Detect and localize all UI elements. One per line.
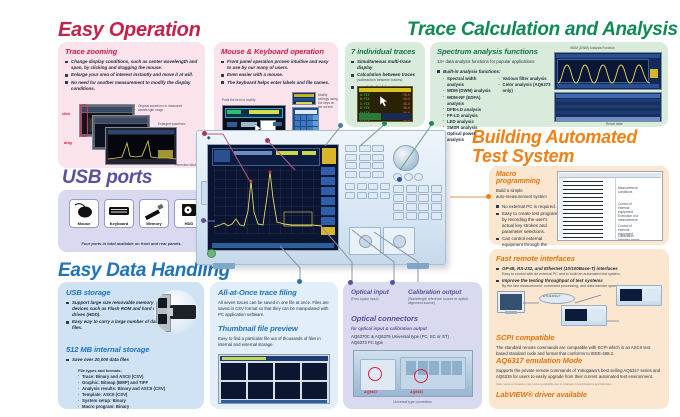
filetypes-list: Trace: Binary and ASCII (CSV) Graphic: B… <box>78 374 198 411</box>
trace-zooming-bullets: Change display conditions, such as cente… <box>65 59 199 92</box>
code-annotation: Execution of a measurement <box>618 214 642 222</box>
title-line1: Macro <box>496 171 516 178</box>
instrument-foot-right <box>407 263 429 269</box>
list-item-sub: (subtraction between traces) <box>357 78 420 83</box>
panel-title: Spectrum analysis functions <box>437 47 555 56</box>
mouse-icon <box>70 200 98 220</box>
caption-point-item: Point the item to modify <box>222 98 255 102</box>
connectors-title: Optical connectors <box>351 314 476 323</box>
caption-enlarged-waveform: Enlarged waveform <box>158 122 200 126</box>
panel-title: Fast remote interfaces <box>496 254 662 263</box>
heading-usb-ports: USB ports <box>62 168 152 188</box>
optical-input-label: Optical input <box>351 289 403 296</box>
usb-icon-memory: Memory <box>139 199 169 228</box>
heading-line2: Test System <box>472 146 574 166</box>
code-annotation: Control of external equipment <box>618 202 642 214</box>
code-annotation: Measurement conditions <box>618 186 642 194</box>
usb-icon-mouse: Mouse <box>69 199 99 228</box>
panel-title: Macro programming <box>496 171 558 185</box>
caption-original-waveform: Original waveform in measured wavelength… <box>138 104 198 112</box>
usb-icon-label: Keyboard <box>105 221 133 226</box>
instrument-numeric-keypad[interactable] <box>393 185 442 220</box>
analyzer-icon-2 <box>561 305 607 326</box>
heading-trace-calculation: Trace Calculation and Analysis <box>407 20 678 40</box>
photo-label: AQ9447 <box>364 390 377 394</box>
panel-macro-programming: Macro programming Build a simple auto-me… <box>489 166 669 245</box>
thumbnail-title: Thumbnail file preview <box>218 324 331 333</box>
instrument-foot-left <box>213 263 235 269</box>
list-item: Spectral width analysis <box>443 76 492 88</box>
screenshot-value-readout <box>292 92 316 105</box>
optical-input-sub: (Free space input) <box>351 297 403 301</box>
callout-node-optical-input <box>348 280 353 285</box>
analysis-functions-col2: Various filter analysis Color analysis (… <box>498 76 555 143</box>
panel-trace-filing: All-at-Once trace filing All seven trace… <box>210 282 338 409</box>
instrument-trace-svg <box>214 167 322 234</box>
list-item: Change display conditions, such as cente… <box>65 59 199 71</box>
thumbnail-body: Easy to find a particular file out of th… <box>218 336 331 348</box>
caption-modify-settings: Modify settings using the keys on the sc… <box>318 93 338 110</box>
list-item: Optical power analysis <box>443 131 492 143</box>
builtin-label-list: Built-in analysis functions: <box>437 69 555 75</box>
list-item: Even easier with a mouse. <box>221 72 332 78</box>
list-item: Built-in analysis functions: <box>437 69 555 75</box>
list-item: The keyboard helps enter labels and file… <box>221 80 332 86</box>
instrument-power-button[interactable] <box>207 249 216 258</box>
panel-usb-storage: USB storage Support large size removable… <box>58 282 204 409</box>
list-item: Color analysis (AQ6373 only) <box>498 82 555 94</box>
callout-node-usb <box>201 218 206 223</box>
list-item-label: GP-IB, RS-232, and Ethernet (10/100Base-… <box>502 266 618 271</box>
list-item: WDM-NF (EDFA) analysis <box>443 95 492 107</box>
optical-spectrum-analyzer: ◆ <box>196 130 446 265</box>
spectrum-lead: 13+ data analysis functions for popular … <box>437 59 555 65</box>
analyzer-icon-1 <box>616 285 662 306</box>
internal-storage-bullets: Save over 20,000 data files <box>66 357 198 363</box>
analysis-functions-col1: Spectral width analysis WDM (DWM) analys… <box>443 76 492 143</box>
callout-node-mouse-keyboard <box>265 138 270 143</box>
callout-node-trace-zooming <box>202 131 207 136</box>
callout-node-display <box>338 123 343 128</box>
macro-lead-line2: auto-measurement system <box>496 194 547 199</box>
keyboard-icon <box>105 200 133 220</box>
mouse-keyboard-bullets: Front panel operation proven intuitive a… <box>221 59 332 86</box>
usb-icon-label: Mouse <box>70 221 98 226</box>
emulation-title: AQ6317 emulation Mode <box>496 356 662 365</box>
panel-individual-traces: 7 individual traces Simultaneous multi-t… <box>345 42 425 127</box>
list-item: Support large size removable memory devi… <box>66 300 162 318</box>
instrument-softkeys[interactable] <box>321 167 335 237</box>
panel-title: All-at-Once trace filing <box>218 288 331 297</box>
screenshot-result-table <box>554 92 662 122</box>
filetypes-label: File types and formats: <box>78 368 198 373</box>
panel-title: USB storage <box>66 288 162 297</box>
instrument-function-keys[interactable] <box>345 145 384 178</box>
title-line2: programming <box>496 178 540 185</box>
callout-node-traces <box>382 121 387 126</box>
usb-icon-label: Memory <box>140 221 168 226</box>
code-annotation: Calculation between traces <box>618 234 642 241</box>
list-item-label: Simultaneous multi-trace display <box>357 59 411 70</box>
internal-storage-title: 512 MB internal storage <box>66 345 198 354</box>
list-item: GP-IB, RS-232, and Ethernet (10/100Base-… <box>496 266 662 277</box>
caption-wdm-analysis: WDM (DWM) Analysis Function <box>570 46 615 50</box>
calibration-output-label: Calibration output <box>408 289 472 296</box>
screenshot-enlarged-waveform <box>105 127 177 165</box>
label-drag: drag <box>64 141 72 145</box>
network-diagram: ETHERNET <box>497 283 662 328</box>
pc-monitor-icon <box>497 291 525 313</box>
macro-bullets: No external PC is required. Easy to crea… <box>496 204 558 255</box>
photo-usb-drive <box>154 290 198 334</box>
callout-node-analysis <box>429 121 434 126</box>
photo-caption: Universal type connection <box>343 400 482 404</box>
instrument-setup-keys[interactable] <box>345 183 390 199</box>
list-item: Front panel operation proven intuitive a… <box>221 59 332 71</box>
photo-label: AQ9451 <box>410 390 423 394</box>
list-item: No need for another measurement to modif… <box>65 80 199 92</box>
connectors-line2: AQ6373 FC type <box>351 340 476 346</box>
panel-title: Mouse & Keyboard operation <box>221 47 332 56</box>
caption-result-table: Result table <box>606 122 623 126</box>
screenshot-trace-list: A:FIXB:FIXC:FIXD:FIXE:FIXF:FIXG:FIX /BLK… <box>357 86 413 122</box>
macro-lead-line1: Build a simple <box>496 188 523 193</box>
labview-title: LabVIEW® driver available <box>496 390 587 399</box>
callout-node-filing <box>297 279 302 284</box>
zoom-selection-marker <box>80 104 88 137</box>
instrument-display[interactable] <box>207 144 339 251</box>
screenshot-thumbnail-preview <box>218 354 330 404</box>
photo-connector-panel: AQ9447 AQ9451 <box>353 350 473 397</box>
panel-trace-zooming: Trace zooming Change display conditions,… <box>58 42 205 168</box>
all-at-once-body: All seven traces can be saved in one fil… <box>218 300 331 317</box>
instrument-brand: ◆ <box>207 135 211 141</box>
instrument-optical-input-port[interactable] <box>349 227 381 255</box>
callout-node-calibration-output <box>390 280 395 285</box>
scpi-body: The standard remote commands are compati… <box>496 345 662 357</box>
brochure-page: Easy Operation Trace Calculation and Ana… <box>0 0 680 417</box>
usb-ports-footnote: Four ports in total available on front a… <box>58 241 205 246</box>
instrument-usb-ports-front[interactable] <box>201 181 208 205</box>
list-item: No external PC is required. <box>496 204 558 210</box>
emulation-note: Note: some commands may not be compatibl… <box>496 382 662 386</box>
usb-storage-bullets: Support large size removable memory devi… <box>66 300 162 331</box>
calibration-output-sub: (Wavelength reference source or optical … <box>408 297 472 305</box>
panel-spectrum-analysis: Spectrum analysis functions 13+ data ana… <box>430 42 668 127</box>
list-item-label: Calculation between traces <box>357 72 415 77</box>
panel-remote-interfaces: Fast remote interfaces GP-IB, RS-232, an… <box>489 249 669 409</box>
list-item: Easy to create test program by recording… <box>496 211 558 235</box>
callout-node-panel <box>397 177 402 182</box>
list-item: Save over 20,000 data files <box>66 357 198 363</box>
emulation-body: Supports the private remote commands of … <box>496 368 662 380</box>
panel-usb-ports: Mouse Keyboard <box>58 190 205 252</box>
list-item: Calculation between traces(subtraction b… <box>351 72 420 83</box>
instrument-rotary-knob[interactable] <box>393 145 419 171</box>
cursor-icon <box>380 96 389 107</box>
list-item: Simultaneous multi-trace display <box>351 59 420 71</box>
panel-title: Trace zooming <box>65 47 199 56</box>
panel-optical-connectors: Optical input (Free space input) Calibra… <box>343 282 482 409</box>
screenshot-macro-editor: Measurement conditions Control of extern… <box>557 171 663 241</box>
panel-title: 7 individual traces <box>351 47 420 56</box>
list-item: Enlarge your area of interest instantly … <box>65 72 199 78</box>
label-click: click <box>62 112 70 116</box>
instrument-calibration-output-port[interactable] <box>383 227 415 255</box>
scpi-title: SCPI compatible <box>496 333 662 342</box>
connectors-sub: for optical input & calibration output <box>351 326 476 331</box>
wdm-waveform-svg <box>558 61 650 85</box>
memory-icon <box>140 200 168 220</box>
list-item: Easy way to carry a large number of data… <box>66 319 162 331</box>
usb-icon-keyboard: Keyboard <box>104 199 134 228</box>
screenshot-wdm-waveform <box>554 52 662 90</box>
list-item: Macro program: Binary <box>78 404 198 410</box>
list-item-sub: Easy to control with an external PC and … <box>502 272 662 277</box>
heading-easy-operation: Easy Operation <box>58 20 201 41</box>
callout-node-macro <box>486 194 491 199</box>
